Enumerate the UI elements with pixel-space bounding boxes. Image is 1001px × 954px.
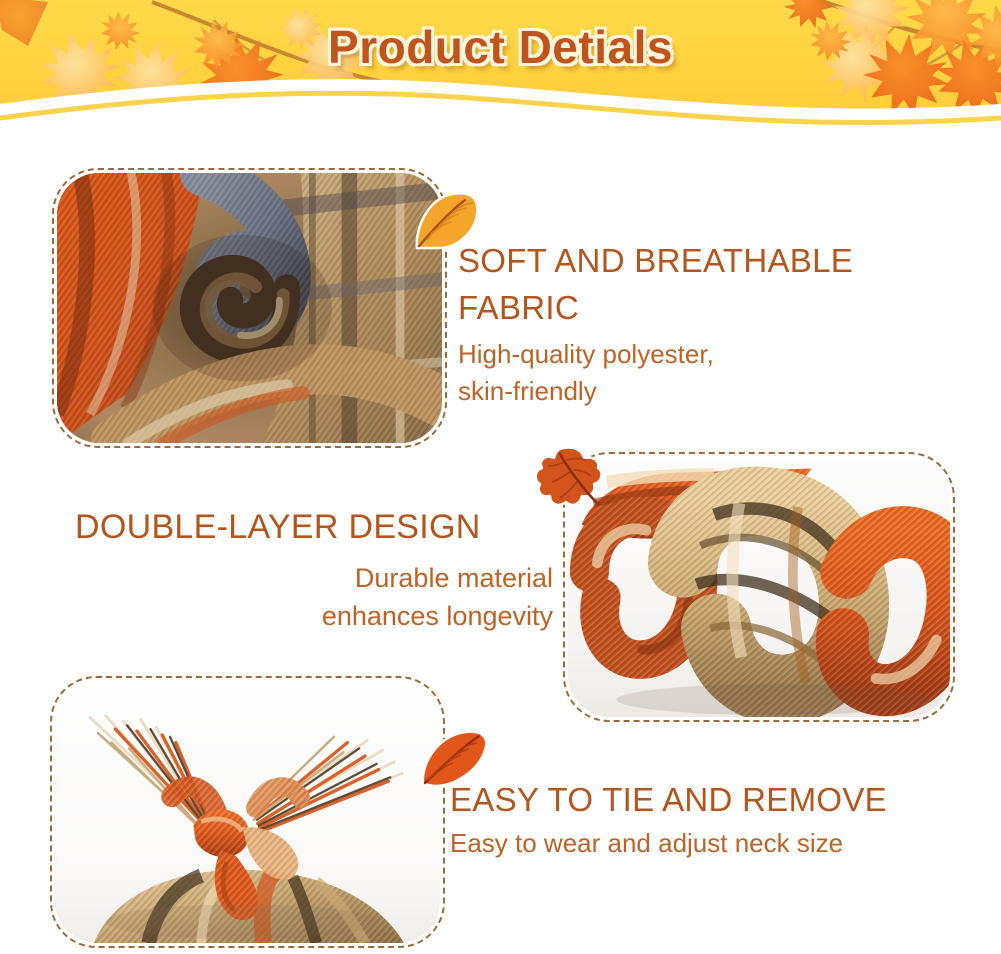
birch-leaf-icon [413,190,481,252]
feature-description-line: enhances longevity [75,597,553,635]
feature-title: EASY TO TIE AND REMOVE [450,778,998,822]
feature-text-soft-breathable-fabric: SOFT AND BREATHABLE FABRIC High-quality … [458,238,978,410]
feature-description: High-quality polyester, skin-friendly [458,336,978,410]
feature-description: Easy to wear and adjust neck size [450,825,998,862]
oak-leaf-icon [534,446,604,510]
folded-fabric-photo [568,457,950,717]
feature-description-line: skin-friendly [458,373,978,410]
feature-description-line: Durable material [75,559,553,597]
knotted-scarf-photo [55,681,440,943]
feature-description: Durable material enhances longevity [75,559,565,636]
feature-text-easy-tie-remove: EASY TO TIE AND REMOVE Easy to wear and … [450,778,998,862]
feature-text-double-layer-design: DOUBLE-LAYER DESIGN Durable material enh… [75,505,565,635]
feature-description-line: Easy to wear and adjust neck size [450,825,998,862]
feature-image-double-layer-design [563,452,955,722]
banner-wave-divider [0,70,1001,132]
feature-image-easy-tie-remove [50,676,445,948]
pointed-leaf-icon [421,728,489,788]
fabric-swirl-photo [57,173,442,443]
feature-description-line: High-quality polyester, [458,336,978,373]
feature-title: SOFT AND BREATHABLE FABRIC [458,238,978,332]
feature-title: DOUBLE-LAYER DESIGN [75,505,565,551]
feature-image-soft-breathable-fabric [52,168,447,448]
header-banner: Product Detials [0,0,1001,132]
page-title: Product Detials [0,20,1001,74]
